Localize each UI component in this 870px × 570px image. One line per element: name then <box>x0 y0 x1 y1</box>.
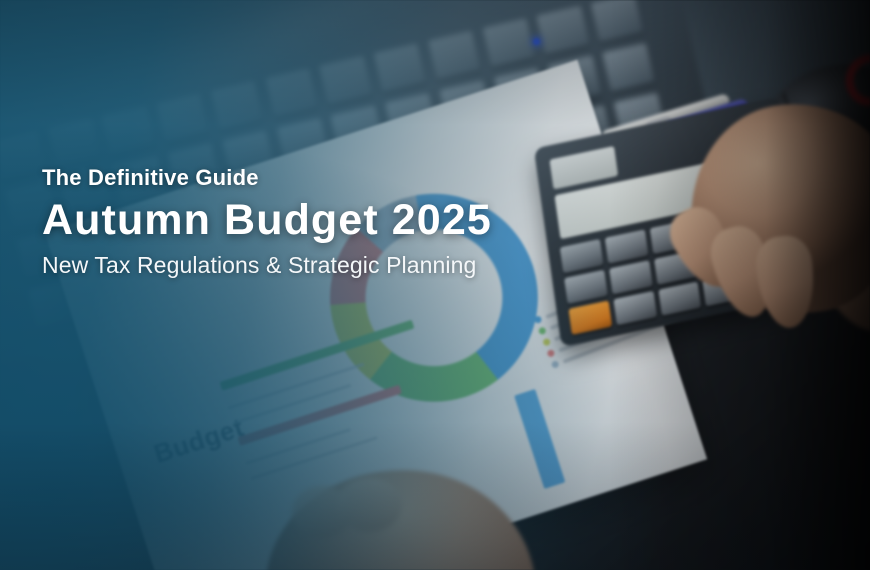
hero-banner: Budget <box>0 0 870 570</box>
eyebrow-text: The Definitive Guide <box>42 164 642 192</box>
page-title: Autumn Budget 2025 <box>42 198 642 244</box>
headline-block: The Definitive Guide Autumn Budget 2025 … <box>42 164 642 281</box>
subtitle-text: New Tax Regulations & Strategic Planning <box>42 251 642 281</box>
vignette-overlay <box>0 0 870 570</box>
